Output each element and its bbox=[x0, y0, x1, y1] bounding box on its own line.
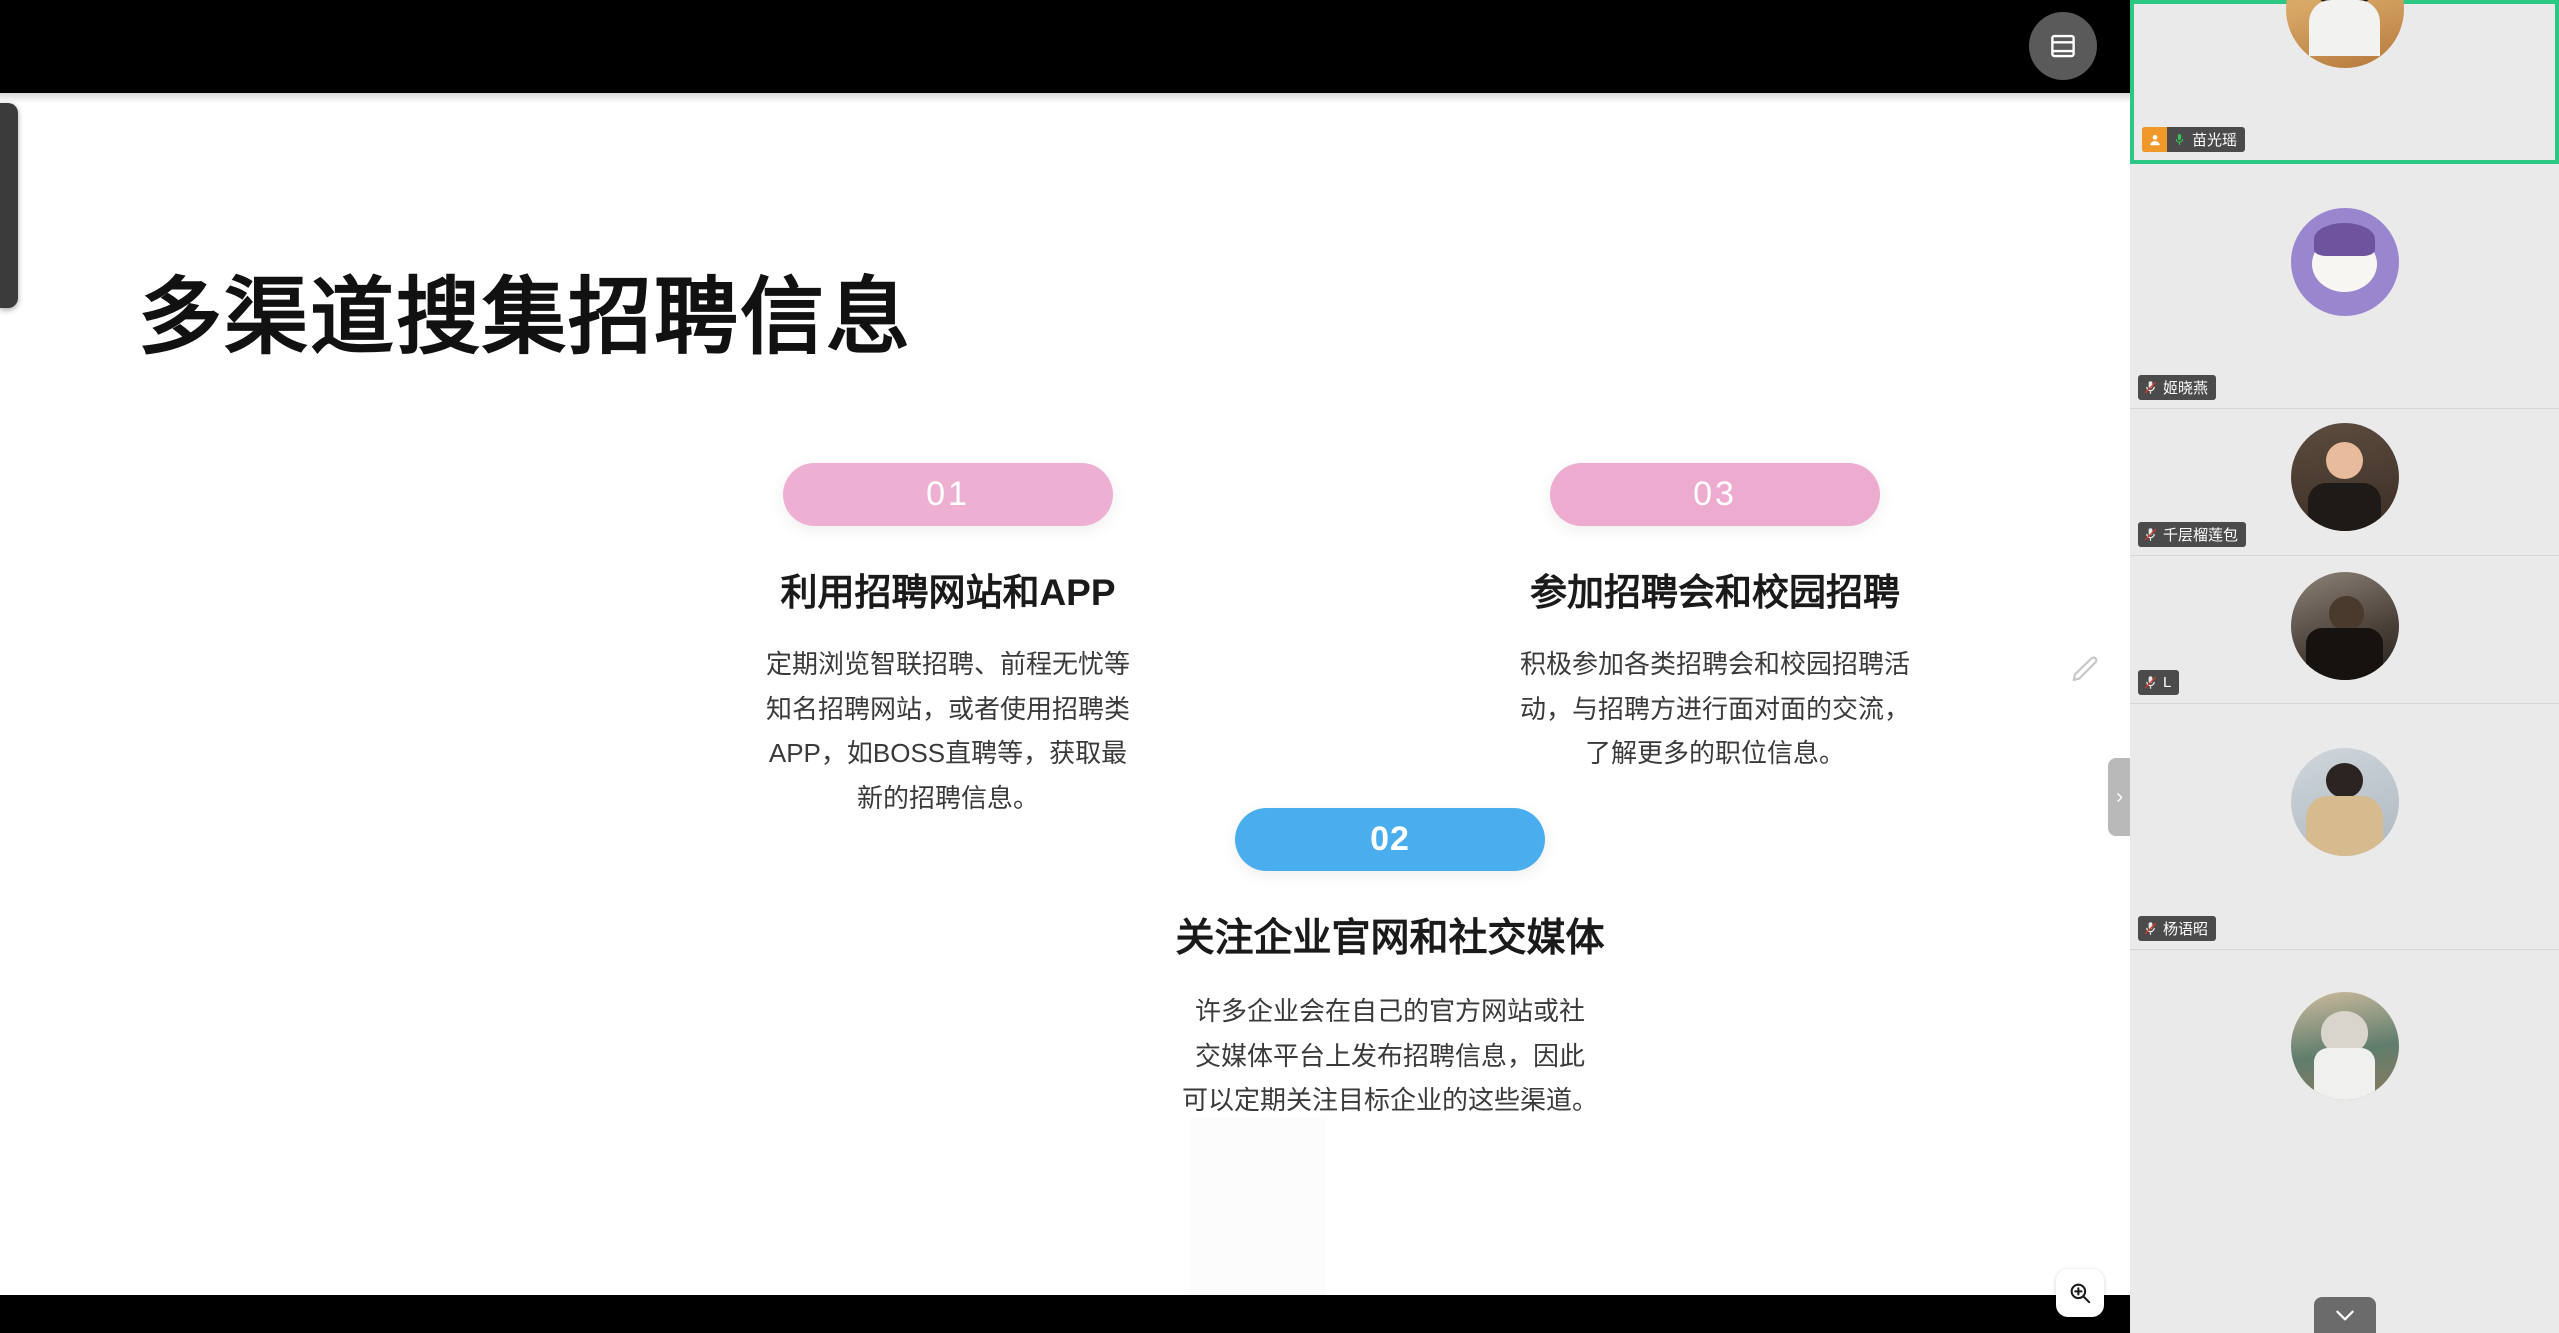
participant-name-bar: 苗光瑶 bbox=[2142, 127, 2245, 152]
stage-top-bar bbox=[0, 0, 2130, 93]
participant-name-bar: 千层榴莲包 bbox=[2138, 522, 2246, 547]
card-number-badge-01: 01 bbox=[783, 463, 1113, 526]
card-number-badge-02: 02 bbox=[1235, 808, 1545, 871]
slide-card-03: 03 参加招聘会和校园招聘 积极参加各类招聘会和校园招聘活 动，与招聘方进行面对… bbox=[1480, 463, 1950, 776]
layout-panel-icon[interactable] bbox=[2029, 12, 2097, 80]
card-title-02: 关注企业官网和社交媒体 bbox=[1145, 907, 1635, 963]
card-body-line: 积极参加各类招聘会和校园招聘活 bbox=[1480, 642, 1950, 687]
participant-name: L bbox=[2162, 674, 2179, 691]
microphone-muted-icon bbox=[2138, 916, 2162, 941]
card-body-line: 可以定期关注目标企业的这些渠道。 bbox=[1145, 1078, 1635, 1123]
microphone-muted-icon bbox=[2138, 670, 2162, 695]
participant-tile[interactable]: 杨语昭 bbox=[2130, 704, 2559, 950]
participant-tile[interactable]: 姬晓燕 bbox=[2130, 164, 2559, 409]
participant-name-bar: 杨语昭 bbox=[2138, 916, 2216, 941]
pencil-icon[interactable] bbox=[2063, 648, 2107, 692]
card-body-line: 新的招聘信息。 bbox=[718, 776, 1178, 821]
avatar bbox=[2291, 748, 2399, 856]
card-body-line: APP，如BOSS直聘等，获取最 bbox=[718, 731, 1178, 776]
microphone-muted-icon bbox=[2138, 522, 2162, 547]
avatar bbox=[2291, 992, 2399, 1100]
avatar bbox=[2291, 423, 2399, 531]
participant-tile[interactable] bbox=[2130, 950, 2559, 1188]
participant-name: 姬晓燕 bbox=[2162, 377, 2216, 398]
meeting-screen-share-view: 多渠道搜集招聘信息 01 利用招聘网站和APP 定期浏览智联招聘、前程无忧等 知… bbox=[0, 0, 2559, 1333]
avatar bbox=[2291, 208, 2399, 316]
drag-handle[interactable] bbox=[0, 103, 18, 308]
microphone-icon bbox=[2167, 127, 2191, 152]
slide-watermark-shape bbox=[1190, 1118, 1325, 1295]
microphone-muted-icon bbox=[2138, 375, 2162, 400]
card-body-line: 知名招聘网站，或者使用招聘类 bbox=[718, 687, 1178, 732]
card-body-line: 交媒体平台上发布招聘信息，因此 bbox=[1145, 1034, 1635, 1079]
card-body-02: 许多企业会在自己的官方网站或社 交媒体平台上发布招聘信息，因此 可以定期关注目标… bbox=[1145, 989, 1635, 1123]
card-title-03: 参加招聘会和校园招聘 bbox=[1480, 562, 1950, 616]
avatar bbox=[2286, 0, 2404, 68]
card-body-03: 积极参加各类招聘会和校园招聘活 动，与招聘方进行面对面的交流， 了解更多的职位信… bbox=[1480, 642, 1950, 776]
participant-name: 千层榴莲包 bbox=[2162, 524, 2246, 545]
chevron-right-icon[interactable] bbox=[2108, 758, 2130, 836]
host-person-icon bbox=[2142, 127, 2167, 152]
card-title-01: 利用招聘网站和APP bbox=[718, 562, 1178, 616]
card-number-badge-03: 03 bbox=[1550, 463, 1880, 526]
participant-name: 苗光瑶 bbox=[2191, 129, 2245, 150]
participant-tile[interactable]: 苗光瑶 bbox=[2130, 0, 2559, 164]
participant-name-bar: 姬晓燕 bbox=[2138, 375, 2216, 400]
participant-tile[interactable]: L bbox=[2130, 556, 2559, 704]
card-body-line: 定期浏览智联招聘、前程无忧等 bbox=[718, 642, 1178, 687]
participant-filmstrip[interactable]: 苗光瑶 姬晓燕 bbox=[2130, 0, 2559, 1333]
participant-name: 杨语昭 bbox=[2162, 918, 2216, 939]
participant-tile[interactable]: 千层榴莲包 bbox=[2130, 409, 2559, 556]
card-body-line: 动，与招聘方进行面对面的交流， bbox=[1480, 687, 1950, 732]
presentation-slide: 多渠道搜集招聘信息 01 利用招聘网站和APP 定期浏览智联招聘、前程无忧等 知… bbox=[0, 93, 2130, 1295]
chevron-down-icon[interactable] bbox=[2314, 1297, 2376, 1333]
participant-name-bar: L bbox=[2138, 670, 2179, 695]
slide-title: 多渠道搜集招聘信息 bbox=[138, 250, 912, 371]
card-body-line: 了解更多的职位信息。 bbox=[1480, 731, 1950, 776]
slide-card-01: 01 利用招聘网站和APP 定期浏览智联招聘、前程无忧等 知名招聘网站，或者使用… bbox=[718, 463, 1178, 821]
slide-card-02: 02 关注企业官网和社交媒体 许多企业会在自己的官方网站或社 交媒体平台上发布招… bbox=[1145, 808, 1635, 1123]
avatar bbox=[2291, 572, 2399, 680]
zoom-in-icon[interactable] bbox=[2056, 1269, 2104, 1317]
stage-bottom-bar bbox=[0, 1295, 2130, 1333]
card-body-line: 许多企业会在自己的官方网站或社 bbox=[1145, 989, 1635, 1034]
shared-screen-stage: 多渠道搜集招聘信息 01 利用招聘网站和APP 定期浏览智联招聘、前程无忧等 知… bbox=[0, 0, 2130, 1333]
card-body-01: 定期浏览智联招聘、前程无忧等 知名招聘网站，或者使用招聘类 APP，如BOSS直… bbox=[718, 642, 1178, 821]
